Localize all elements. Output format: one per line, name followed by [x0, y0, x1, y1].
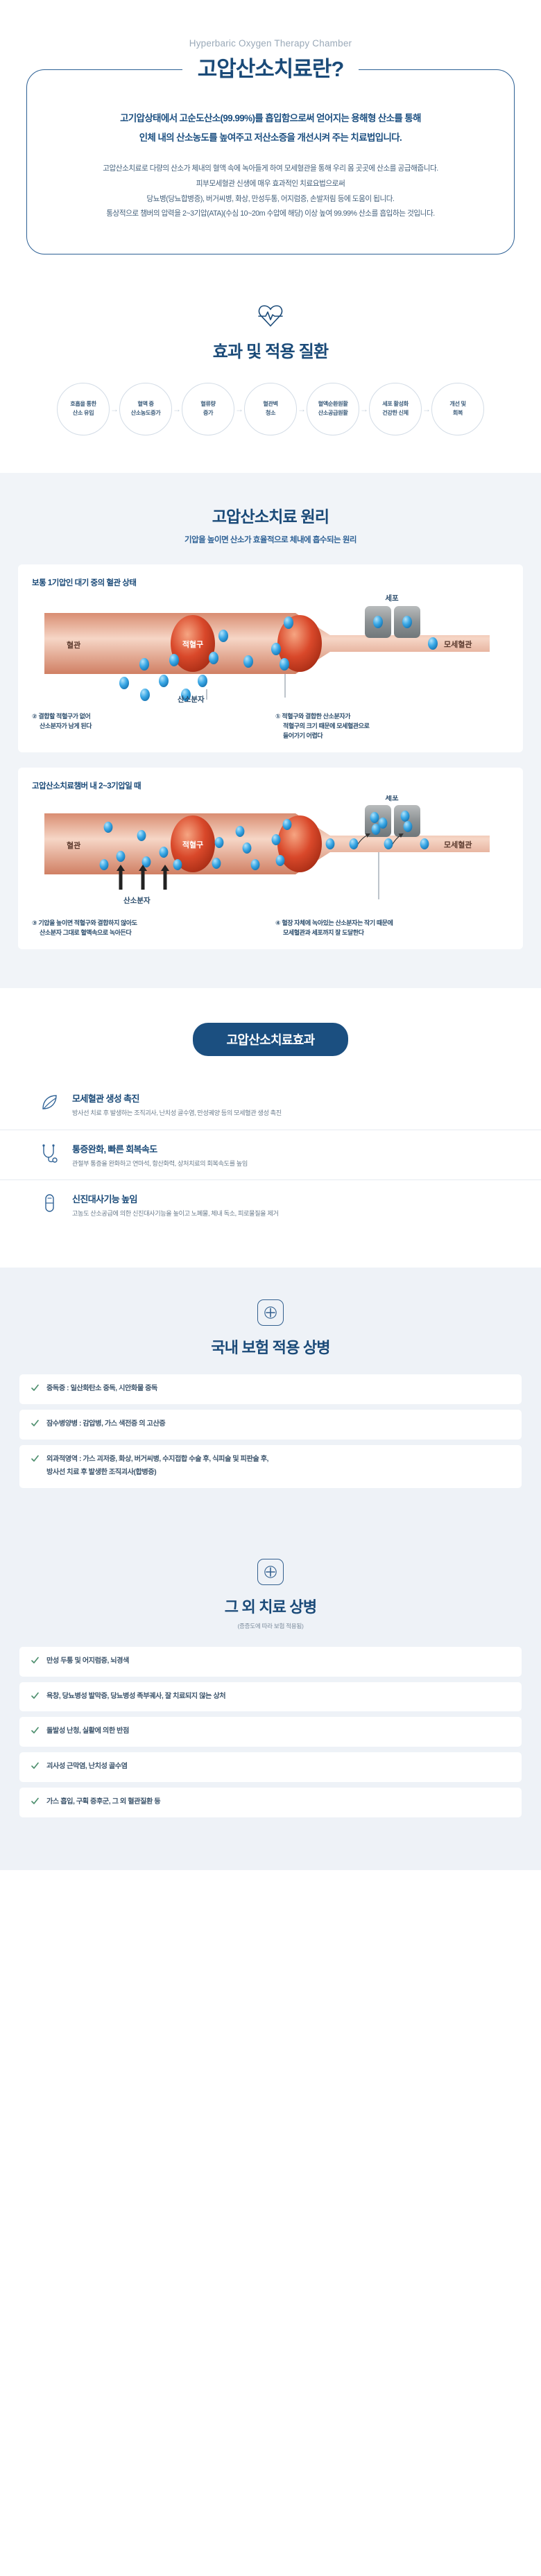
flow-node-2: 혈액 중 산소농도증가: [119, 383, 172, 435]
flow-node-4-line2: 청소: [266, 409, 275, 418]
list-item: 욕창, 당뇨병성 발막증, 당뇨병성 족부궤사, 잘 치료되지 않는 상처: [19, 1682, 522, 1712]
list-item: 만성 두통 및 어지럼증, 뇌경색: [19, 1647, 522, 1677]
effect-item-3-heading: 신진대사기능 높임: [72, 1192, 278, 1205]
intro-section: Hyperbaric Oxygen Therapy Chamber 고압산소치료…: [0, 0, 541, 296]
flow-title: 효과 및 적용 질환: [0, 338, 541, 362]
list-item-line: 돌발성 난청, 실활에 의한 반점: [46, 1725, 129, 1738]
effect-item-2-heading: 통증완화, 빠른 회복속도: [72, 1142, 248, 1155]
svg-text:혈관: 혈관: [67, 840, 80, 850]
other-conditions-section: 그 외 치료 상병 (증증도에 따라 보험 적용됨) 만성 두통 및 어지럼증,…: [0, 1527, 541, 1856]
diagram-2-note-right-line-1: ④ 혈장 자체에 녹아있는 산소분자는 작기 때문에: [275, 919, 509, 928]
leaf-icon: [37, 1091, 61, 1114]
intro-lead: 고기압상태에서 고순도산소(99.99%)를 흡입함으로써 얻어지는 용해형 산…: [48, 109, 493, 148]
intro-eyebrow: Hyperbaric Oxygen Therapy Chamber: [0, 38, 541, 49]
principle-section: 고압산소치료 원리 기압을 높이면 산소가 효율적으로 체내에 흡수되는 원리 …: [0, 473, 541, 988]
flow-node-6-line2: 건강한 신체: [382, 409, 409, 418]
list-item-text: 잠수병양병 : 감압병, 가스 색전증 의 고산증: [46, 1418, 165, 1431]
svg-text:세포: 세포: [385, 594, 399, 603]
flow-row: 호흡을 통한 산소 유입 → 혈액 중 산소농도증가 → 혈류량 증가 → 혈관…: [0, 383, 541, 435]
flow-arrow-5: →: [359, 404, 369, 414]
effect-item-2: 통증완화, 빠른 회복속도 관절부 통증을 완화하고 연마석, 항산화력, 상처…: [0, 1130, 541, 1180]
svg-text:세포: 세포: [385, 795, 399, 802]
intro-sub-line-4: 통상적으로 챔버의 압력을 2~3기압(ATA)(수심 10~20m 수압에 해…: [48, 207, 493, 222]
insurance-section: 국내 보험 적용 상병 중독증 : 일산화탄소 중독, 시안화물 중독 잠수병양…: [0, 1268, 541, 1527]
list-item: 잠수병양병 : 감압병, 가스 색전증 의 고산증: [19, 1410, 522, 1440]
list-item-text: 욕창, 당뇨병성 발막증, 당뇨병성 족부궤사, 잘 치료되지 않는 상처: [46, 1691, 225, 1704]
list-item: 외과적영역 : 가스 괴저증, 화상, 버거씨병, 수지접합 수술 후, 식피술…: [19, 1445, 522, 1488]
effect-pill-title: 고압산소치료효과: [193, 1023, 348, 1056]
diagram-1-note-left-line-1: ② 결합할 적혈구가 없어: [32, 712, 266, 722]
diagram-1-note-right-line-3: 들어가기 어렵다: [275, 732, 509, 741]
diagram-2-graphic: 혈관 적혈구 세포: [32, 795, 509, 913]
check-icon: [31, 1797, 40, 1806]
flow-node-3-line1: 혈류량: [200, 400, 215, 409]
flow-node-3-line2: 증가: [203, 409, 213, 418]
medical-cross-icon: [257, 1559, 284, 1585]
diagram-1-annotations: ② 결합할 적혈구가 없어 산소분자가 남게 된다 ① 적혈구와 결합한 산소분…: [32, 712, 509, 741]
flow-node-4: 혈관벽 청소: [244, 383, 297, 435]
flow-arrow-3: →: [234, 404, 244, 414]
flow-node-1: 호흡을 통한 산소 유입: [57, 383, 110, 435]
list-item-text: 가스 흡입, 구획 증후군, 그 외 혈관질환 등: [46, 1796, 160, 1809]
diagram-1-note-right-line-2: 적혈구의 크기 때문에 모세혈관으로: [275, 722, 509, 732]
diagram-1-label: 보통 1기압인 대기 중의 혈관 상태: [32, 577, 509, 588]
flow-node-7-line1: 개선 및: [449, 400, 465, 409]
list-item-text: 외과적영역 : 가스 괴저증, 화상, 버거씨병, 수지접합 수술 후, 식피술…: [46, 1453, 268, 1480]
check-icon: [31, 1761, 40, 1770]
flow-arrow-6: →: [422, 404, 431, 414]
check-icon: [31, 1656, 40, 1665]
list-item: 돌발성 난청, 실활에 의한 반점: [19, 1717, 522, 1747]
effect-item-3-text: 신진대사기능 높임 고농도 산소공급에 의한 신진대사기능을 높이고 노폐물, …: [72, 1191, 278, 1219]
diagram-1-note-right: ① 적혈구와 결합한 산소분자가 적혈구의 크기 때문에 모세혈관으로 들어가기…: [275, 712, 509, 741]
check-icon: [31, 1419, 40, 1428]
flow-node-1-line2: 산소 유입: [73, 409, 94, 418]
diagram-2-note-left-line-2: 산소분자 그대로 혈액속으로 녹아든다: [32, 928, 266, 938]
flow-node-3: 혈류량 증가: [182, 383, 234, 435]
flow-node-2-line2: 산소농도증가: [131, 409, 161, 418]
flow-arrow-2: →: [172, 404, 182, 414]
flow-node-5-line2: 산소공급원활: [318, 409, 348, 418]
effect-item-2-text: 통증완화, 빠른 회복속도 관절부 통증을 완화하고 연마석, 항산화력, 상처…: [72, 1141, 248, 1169]
flow-node-4-line1: 혈관벽: [263, 400, 277, 409]
svg-text:산소분자: 산소분자: [123, 896, 151, 905]
list-item: 가스 흡입, 구획 증후군, 그 외 혈관질환 등: [19, 1788, 522, 1817]
list-item-line: 잠수병양병 : 감압병, 가스 색전증 의 고산증: [46, 1418, 165, 1431]
flow-node-7-line2: 회복: [453, 409, 463, 418]
insurance-title: 국내 보험 적용 상병: [0, 1335, 541, 1358]
diagram-1-note-left: ② 결합할 적혈구가 없어 산소분자가 남게 된다: [32, 712, 266, 741]
list-item-line: 방사선 치료 후 발생한 조직괴사(합병증): [46, 1467, 268, 1480]
svg-text:혈관: 혈관: [67, 640, 80, 650]
flow-node-2-line1: 혈액 중: [137, 400, 153, 409]
intro-sub: 고압산소치료로 다량의 산소가 체내의 혈액 속에 녹아들게 하여 모세혈관을 …: [48, 162, 493, 222]
effect-item-2-desc: 관절부 통증을 완화하고 연마석, 항산화력, 상처치료의 회복속도를 높임: [72, 1159, 248, 1169]
page-title: 고압산소치료란?: [182, 53, 359, 85]
other-conditions-title: 그 외 치료 상병: [0, 1595, 541, 1617]
flow-node-7: 개선 및 회복: [431, 383, 484, 435]
diagram-2-note-left-line-1: ③ 기압을 높이면 적혈구와 결합하지 않아도: [32, 919, 266, 928]
svg-text:적혈구: 적혈구: [182, 639, 203, 649]
intro-lead-line-2: 인체 내의 산소농도를 높여주고 저산소증을 개선시켜 주는 치료법입니다.: [48, 128, 493, 148]
bottom-spacer: [0, 1856, 541, 1870]
principle-subtitle: 기압을 높이면 산소가 효율적으로 체내에 흡수되는 원리: [0, 534, 541, 545]
check-icon: [31, 1691, 40, 1700]
list-item: 중독증 : 일산화탄소 중독, 시안화물 중독: [19, 1374, 522, 1404]
flow-node-5: 혈액순환원활 산소공급원활: [307, 383, 359, 435]
insurance-check-list: 중독증 : 일산화탄소 중독, 시안화물 중독 잠수병양병 : 감압병, 가스 …: [19, 1374, 522, 1488]
principle-diagram-1-card: 보통 1기압인 대기 중의 혈관 상태: [18, 564, 523, 752]
effect-section: 고압산소치료효과 모세혈관 생성 촉진 방사선 치료 후 발생하는 조직괴사, …: [0, 988, 541, 1268]
intro-lead-line-1: 고기압상태에서 고순도산소(99.99%)를 흡입함으로써 얻어지는 용해형 산…: [48, 109, 493, 128]
capsule-icon: [37, 1191, 61, 1215]
svg-text:적혈구: 적혈구: [182, 840, 203, 849]
svg-text:모세혈관: 모세혈관: [444, 840, 472, 849]
list-item-text: 중독증 : 일산화탄소 중독, 시안화물 중독: [46, 1383, 157, 1396]
effect-item-1-desc: 방사선 치료 후 발생하는 조직괴사, 난치성 골수염, 만성궤양 등의 모세혈…: [72, 1109, 282, 1118]
other-check-list: 만성 두통 및 어지럼증, 뇌경색 욕창, 당뇨병성 발막증, 당뇨병성 족부궤…: [19, 1647, 522, 1817]
diagram-2-note-right-line-2: 모세혈관과 세포까지 잘 도달한다: [275, 928, 509, 938]
effect-item-3: 신진대사기능 높임 고농도 산소공급에 의한 신진대사기능을 높이고 노폐물, …: [0, 1179, 541, 1230]
list-item-line: 중독증 : 일산화탄소 중독, 시안화물 중독: [46, 1383, 157, 1396]
diagram-2-note-left: ③ 기압을 높이면 적혈구와 결합하지 않아도 산소분자 그대로 혈액속으로 녹…: [32, 919, 266, 938]
flow-node-6-line1: 세포 활성화: [382, 400, 409, 409]
list-item-line: 욕창, 당뇨병성 발막증, 당뇨병성 족부궤사, 잘 치료되지 않는 상처: [46, 1691, 225, 1704]
diagram-2-note-right: ④ 혈장 자체에 녹아있는 산소분자는 작기 때문에 모세혈관과 세포까지 잘 …: [275, 919, 509, 938]
diagram-1-note-right-line-1: ① 적혈구와 결합한 산소분자가: [275, 712, 509, 722]
heartbeat-icon: [257, 303, 284, 328]
effect-item-1-text: 모세혈관 생성 촉진 방사선 치료 후 발생하는 조직괴사, 난치성 골수염, …: [72, 1091, 282, 1118]
flow-node-6: 세포 활성화 건강한 신체: [369, 383, 422, 435]
intro-title-wrap: 고압산소치료란?: [0, 53, 541, 85]
list-item-line: 가스 흡입, 구획 증후군, 그 외 혈관질환 등: [46, 1796, 160, 1809]
intro-sub-line-3: 당뇨병(당뇨합병증), 버거씨병, 화상, 만성두통, 어지럼증, 손발저림 등…: [48, 192, 493, 207]
list-item-text: 돌발성 난청, 실활에 의한 반점: [46, 1725, 129, 1738]
diagram-1-note-left-line-2: 산소분자가 남게 된다: [32, 722, 266, 732]
diagram-2-annotations: ③ 기압을 높이면 적혈구와 결합하지 않아도 산소분자 그대로 혈액속으로 녹…: [32, 919, 509, 938]
svg-text:산소분자: 산소분자: [178, 695, 205, 703]
list-item-text: 괴사성 근막염, 난치성 골수염: [46, 1761, 128, 1774]
list-item-line: 외과적영역 : 가스 괴저증, 화상, 버거씨병, 수지접합 수술 후, 식피술…: [46, 1453, 268, 1467]
intro-sub-line-2: 피부모세혈관 신생에 매우 효과적인 치료요법으로써: [48, 177, 493, 192]
check-icon: [31, 1726, 40, 1735]
effect-item-3-desc: 고농도 산소공급에 의한 신진대사기능을 높이고 노폐물, 체내 독소, 피로물…: [72, 1209, 278, 1219]
stethoscope-icon: [37, 1141, 61, 1165]
check-icon: [31, 1454, 40, 1463]
flow-node-1-line1: 호흡을 통한: [70, 400, 96, 409]
diagram-2-label: 고압산소치료챔버 내 2~3기압일 때: [32, 780, 509, 791]
effects-flow-section: 효과 및 적용 질환 호흡을 통한 산소 유입 → 혈액 중 산소농도증가 → …: [0, 296, 541, 473]
flow-arrow-1: →: [110, 404, 119, 414]
other-conditions-note: (증증도에 따라 보험 적용됨): [0, 1622, 541, 1630]
list-item: 괴사성 근막염, 난치성 골수염: [19, 1752, 522, 1782]
list-item-line: 만성 두통 및 어지럼증, 뇌경색: [46, 1655, 129, 1668]
check-icon: [31, 1383, 40, 1392]
list-item-line: 괴사성 근막염, 난치성 골수염: [46, 1761, 128, 1774]
effect-item-1-heading: 모세혈관 생성 촉진: [72, 1091, 282, 1105]
principle-title: 고압산소치료 원리: [0, 503, 541, 527]
svg-text:모세혈관: 모세혈관: [444, 639, 472, 649]
flow-arrow-4: →: [297, 404, 307, 414]
list-item-text: 만성 두통 및 어지럼증, 뇌경색: [46, 1655, 129, 1668]
medical-cross-icon: [257, 1299, 284, 1326]
effect-item-1: 모세혈관 생성 촉진 방사선 치료 후 발생하는 조직괴사, 난치성 골수염, …: [0, 1080, 541, 1130]
diagram-1-graphic: 혈관 적혈구 세포 모세혈관: [32, 592, 509, 707]
principle-diagram-2-card: 고압산소치료챔버 내 2~3기압일 때 혈관 적혈구 세포: [18, 768, 523, 949]
intro-sub-line-1: 고압산소치료로 다량의 산소가 체내의 혈액 속에 녹아들게 하여 모세혈관을 …: [48, 162, 493, 177]
hyperbaric-oxygen-therapy-page: Hyperbaric Oxygen Therapy Chamber 고압산소치료…: [0, 0, 541, 1870]
intro-box: 고기압상태에서 고순도산소(99.99%)를 흡입함으로써 얻어지는 용해형 산…: [26, 69, 515, 254]
flow-node-5-line1: 혈액순환원활: [318, 400, 348, 409]
